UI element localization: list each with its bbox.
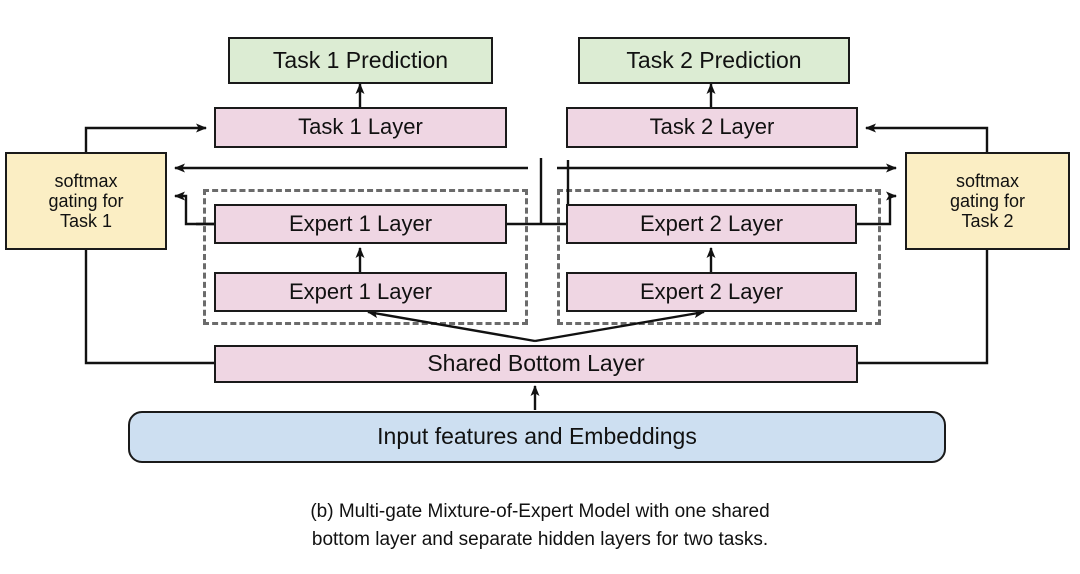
wire-shared-left-trunk — [86, 250, 214, 363]
diagram-canvas: Task 1 Prediction Task 2 Prediction Task… — [0, 0, 1080, 574]
task1-layer-label: Task 1 Layer — [298, 115, 423, 140]
gating-task1-line1: softmax — [54, 171, 117, 191]
figure-caption-line1: (b) Multi-gate Mixture-of-Expert Model w… — [0, 498, 1080, 526]
gating-task1-line2: gating for — [48, 191, 123, 211]
shared-bottom-layer-box[interactable]: Shared Bottom Layer — [214, 345, 858, 383]
task2-layer-label: Task 2 Layer — [650, 115, 775, 140]
expert2-layer-top-label: Expert 2 Layer — [640, 212, 783, 237]
wire-gate2-to-task2layer — [866, 128, 987, 152]
figure-caption-line2: bottom layer and separate hidden layers … — [0, 526, 1080, 554]
task2-prediction-label: Task 2 Prediction — [626, 48, 801, 74]
task2-prediction-box[interactable]: Task 2 Prediction — [578, 37, 850, 84]
softmax-gating-task2-box[interactable]: softmax gating for Task 2 — [905, 152, 1070, 250]
figure-caption: (b) Multi-gate Mixture-of-Expert Model w… — [0, 498, 1080, 553]
gating-task2-line3: Task 2 — [961, 211, 1013, 231]
gating-task2-line1: softmax — [956, 171, 1019, 191]
wire-gate1-to-task1layer — [86, 128, 206, 152]
task1-prediction-label: Task 1 Prediction — [273, 48, 448, 74]
gating-task2-line2: gating for — [950, 191, 1025, 211]
connector-layer — [0, 0, 1080, 574]
expert2-layer-top-box[interactable]: Expert 2 Layer — [566, 204, 857, 244]
gating-task1-line3: Task 1 — [60, 211, 112, 231]
expert1-layer-top-label: Expert 1 Layer — [289, 212, 432, 237]
expert2-layer-bottom-box[interactable]: Expert 2 Layer — [566, 272, 857, 312]
input-features-label: Input features and Embeddings — [377, 424, 697, 450]
shared-bottom-layer-label: Shared Bottom Layer — [427, 351, 644, 377]
task2-layer-box[interactable]: Task 2 Layer — [566, 107, 858, 148]
softmax-gating-task1-box[interactable]: softmax gating for Task 1 — [5, 152, 167, 250]
expert2-layer-bottom-label: Expert 2 Layer — [640, 280, 783, 305]
input-features-box[interactable]: Input features and Embeddings — [128, 411, 946, 463]
expert1-layer-top-box[interactable]: Expert 1 Layer — [214, 204, 507, 244]
task1-layer-box[interactable]: Task 1 Layer — [214, 107, 507, 148]
expert1-layer-bottom-label: Expert 1 Layer — [289, 280, 432, 305]
task1-prediction-box[interactable]: Task 1 Prediction — [228, 37, 493, 84]
expert1-layer-bottom-box[interactable]: Expert 1 Layer — [214, 272, 507, 312]
